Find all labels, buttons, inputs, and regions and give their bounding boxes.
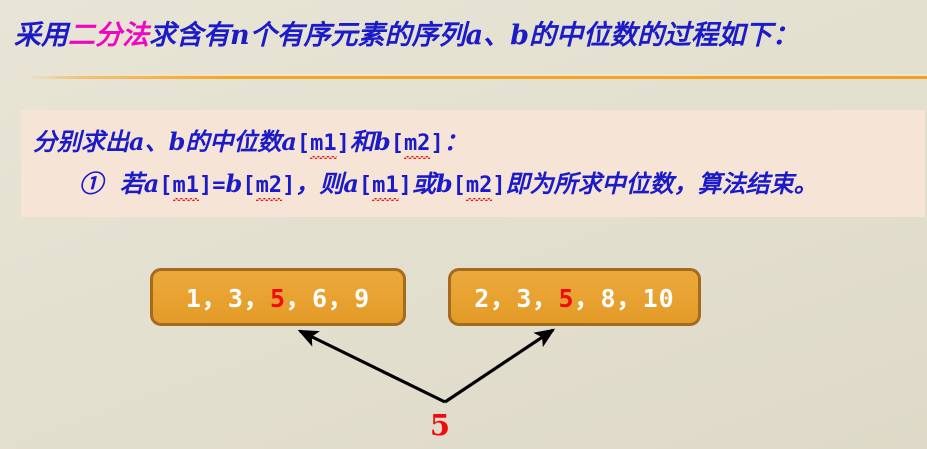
array-value: 5 xyxy=(558,284,574,313)
line2-opt2-close: ] xyxy=(492,173,505,198)
title-divider xyxy=(26,76,927,79)
line1-index-m2: m2 xyxy=(404,131,431,156)
panel-line-1: 分别求出a、b的中位数a[m1]和b[m2]： xyxy=(33,122,468,157)
content-panel: 分别求出a、b的中位数a[m1]和b[m2]： ① 若a[m1]=b[m2]，则… xyxy=(21,110,925,217)
line1-separator: 、 xyxy=(145,127,169,156)
line2-opt1-open: [ xyxy=(359,173,372,198)
line2-rhs-open: [ xyxy=(242,173,255,198)
array-separator: ， xyxy=(328,284,354,313)
line1-mid: 的中位数 xyxy=(185,127,281,156)
line1-index-m1: m1 xyxy=(310,131,337,156)
line2-equals: = xyxy=(212,173,225,198)
array-separator: ， xyxy=(490,284,516,313)
title-separator: 、 xyxy=(483,20,510,51)
line1-colon: ： xyxy=(444,127,468,156)
array-separator: ， xyxy=(202,284,228,313)
title-segment-1: 采用 xyxy=(14,20,68,51)
line2-rhs-close: ] xyxy=(282,173,295,198)
slide-title: 采用二分法求含有n个有序元素的序列a、b的中位数的过程如下： xyxy=(14,14,919,62)
line2-opt1-close: ] xyxy=(399,173,412,198)
array-value: 2 xyxy=(474,284,490,313)
median-arrows xyxy=(0,0,927,449)
array-value: 1 xyxy=(186,284,202,313)
line1-bracket-a-open: [ xyxy=(297,131,310,156)
array-separator: ， xyxy=(617,284,643,313)
line2-lhs-close: ] xyxy=(199,173,212,198)
line2-opt2-var: b xyxy=(436,169,453,198)
line2-lhs-var: a xyxy=(144,169,160,198)
panel-line-2: ① 若a[m1]=b[m2]，则a[m1]或b[m2]即为所求中位数，算法结束。 xyxy=(79,164,818,199)
line1-term-b: b xyxy=(374,127,391,156)
array-value: 9 xyxy=(354,284,370,313)
array-value: 10 xyxy=(643,284,675,313)
line1-var-b: b xyxy=(169,127,186,156)
line1-term-a: a xyxy=(281,127,297,156)
title-segment-5: 个有序元素的序列 xyxy=(250,20,466,51)
line1-bracket-b-open: [ xyxy=(391,131,404,156)
line2-lhs-open: [ xyxy=(159,173,172,198)
array-value: 3 xyxy=(516,284,532,313)
array-value: 6 xyxy=(312,284,328,313)
line2-opt1-index: m1 xyxy=(372,173,399,198)
line2-tail: 即为所求中位数，算法结束。 xyxy=(506,169,818,198)
line2-lhs-index: m1 xyxy=(173,173,200,198)
line2-marker: ① xyxy=(79,169,103,198)
title-var-n: n xyxy=(230,20,250,51)
line2-rhs-index: m2 xyxy=(256,173,283,198)
title-segment-highlight: 二分法 xyxy=(68,20,149,51)
title-segment-9: 的中位数的过程如下： xyxy=(529,20,799,51)
line2-rhs-var: b xyxy=(226,169,243,198)
line2-then: 则 xyxy=(319,169,343,198)
title-var-b: b xyxy=(510,20,529,51)
arrow-to-array-a xyxy=(300,331,445,402)
array-value: 3 xyxy=(228,284,244,313)
line2-opt2-open: [ xyxy=(453,173,466,198)
line2-if: 若 xyxy=(120,169,144,198)
array-b-sequence: 2，3，5，8，10 xyxy=(474,279,674,315)
array-separator: ， xyxy=(286,284,312,313)
line1-bracket-a-close: ] xyxy=(337,131,350,156)
line1-var-a: a xyxy=(129,127,145,156)
median-result-value: 5 xyxy=(415,408,465,442)
slide-canvas: 采用二分法求含有n个有序元素的序列a、b的中位数的过程如下： 分别求出a、b的中… xyxy=(0,0,927,449)
array-box-a: 1，3，5，6，9 xyxy=(150,268,406,326)
line2-comma-1: ， xyxy=(295,169,319,198)
line2-opt2-index: m2 xyxy=(466,173,493,198)
array-a-sequence: 1，3，5，6，9 xyxy=(186,279,370,315)
line1-bracket-b-close: ] xyxy=(430,131,443,156)
line1-prefix: 分别求出 xyxy=(33,127,129,156)
array-separator: ， xyxy=(532,284,558,313)
title-segment-3: 求含有 xyxy=(149,20,230,51)
title-var-a: a xyxy=(466,20,484,51)
array-separator: ， xyxy=(244,284,270,313)
array-value: 8 xyxy=(601,284,617,313)
line2-opt1-var: a xyxy=(343,169,359,198)
array-separator: ， xyxy=(575,284,601,313)
arrow-to-array-b xyxy=(445,330,553,402)
array-box-b: 2，3，5，8，10 xyxy=(448,268,701,326)
line1-conjunction: 和 xyxy=(350,127,374,156)
line2-or: 或 xyxy=(412,169,436,198)
array-value: 5 xyxy=(270,284,286,313)
